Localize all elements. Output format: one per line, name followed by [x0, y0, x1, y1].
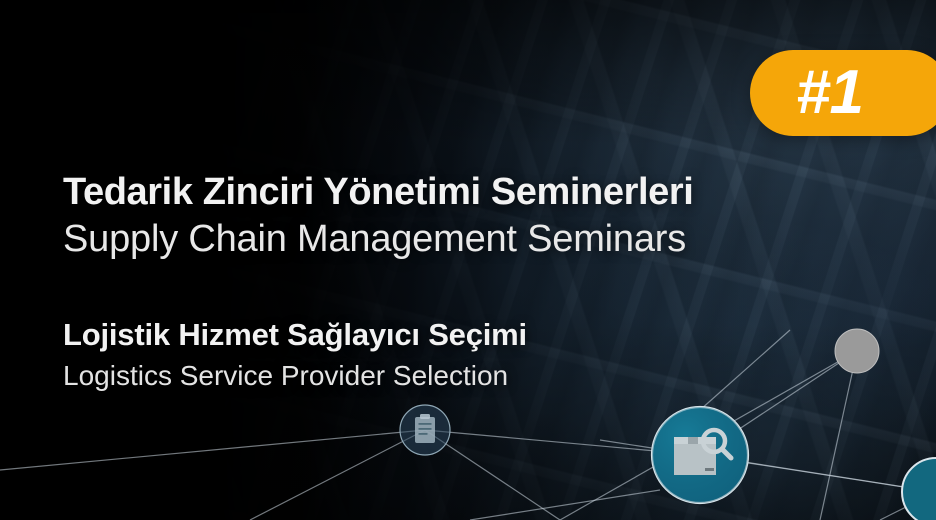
page-title-tr: Tedarik Zinciri Yönetimi Seminerleri	[63, 172, 863, 213]
checklist-node	[400, 405, 450, 455]
clipboard-checklist-icon	[415, 414, 435, 443]
page-subtitle-en: Logistics Service Provider Selection	[63, 359, 863, 393]
edge-checklist-to-left	[0, 430, 425, 470]
page-title-en: Supply Chain Management Seminars	[63, 217, 863, 263]
subheading-block: Lojistik Hizmet Sağlayıcı Seçimi Logisti…	[63, 318, 863, 392]
heading-block: Tedarik Zinciri Yönetimi Seminerleri Sup…	[63, 172, 863, 263]
page-subtitle-tr: Lojistik Hizmet Sağlayıcı Seçimi	[63, 318, 863, 353]
rank-badge[interactable]: #1	[750, 50, 936, 136]
plain-node-teal-corner	[902, 458, 936, 520]
rank-badge-label: #1	[796, 62, 863, 124]
seminar-banner: #1 Tedarik Zinciri Yönetimi Seminerleri …	[0, 0, 936, 520]
package-search-node	[652, 407, 748, 503]
edge-package-to-bottom	[470, 490, 660, 520]
edge-corner-to-mid	[600, 440, 936, 492]
